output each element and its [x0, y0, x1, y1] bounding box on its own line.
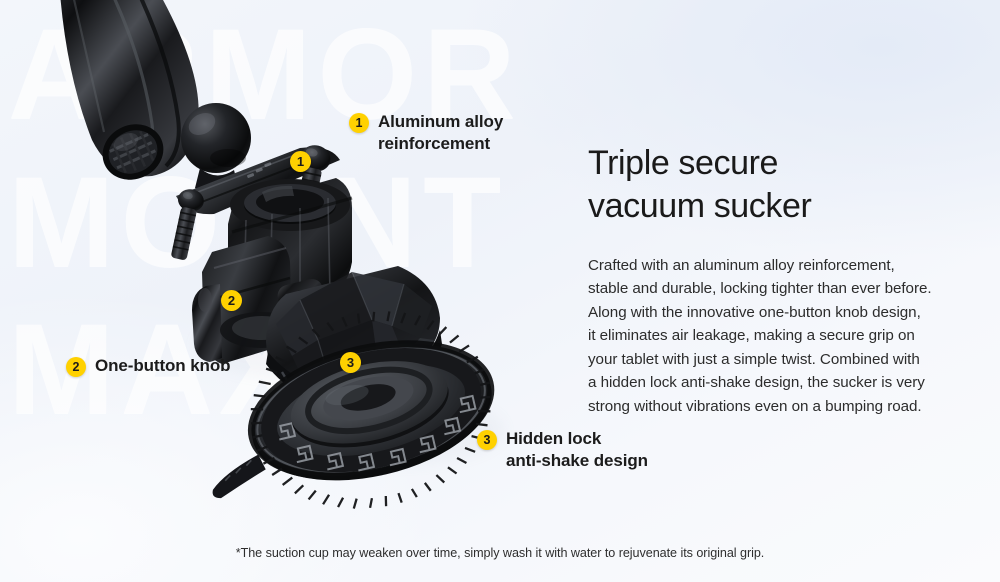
product-marker-2: 2 [221, 290, 242, 311]
callout-2-badge: 2 [66, 357, 86, 377]
footnote: *The suction cup may weaken over time, s… [0, 546, 1000, 560]
callout-2: 2 One-button knob [66, 355, 230, 377]
callout-3-label: Hidden lock anti-shake design [506, 428, 648, 472]
background-watermark: ARMOR MOUNT MAX [0, 0, 620, 582]
headline: Triple secure vacuum sucker [588, 142, 970, 228]
callout-2-label: One-button knob [95, 355, 230, 377]
callout-3-badge: 3 [477, 430, 497, 450]
product-marker-3: 3 [340, 352, 361, 373]
product-feature-banner: ARMOR MOUNT MAX [0, 0, 1000, 582]
body-copy: Crafted with an aluminum alloy reinforce… [588, 254, 970, 419]
watermark-line-2: MOUNT [0, 162, 620, 284]
callout-1: 1 Aluminum alloy reinforcement [349, 111, 503, 155]
product-image [0, 0, 560, 520]
callout-3: 3 Hidden lock anti-shake design [477, 428, 648, 472]
copy-block: Triple secure vacuum sucker Crafted with… [588, 142, 970, 419]
product-marker-1: 1 [290, 151, 311, 172]
watermark-line-1: ARMOR [0, 14, 620, 136]
callout-1-label: Aluminum alloy reinforcement [378, 111, 503, 155]
callout-1-badge: 1 [349, 113, 369, 133]
